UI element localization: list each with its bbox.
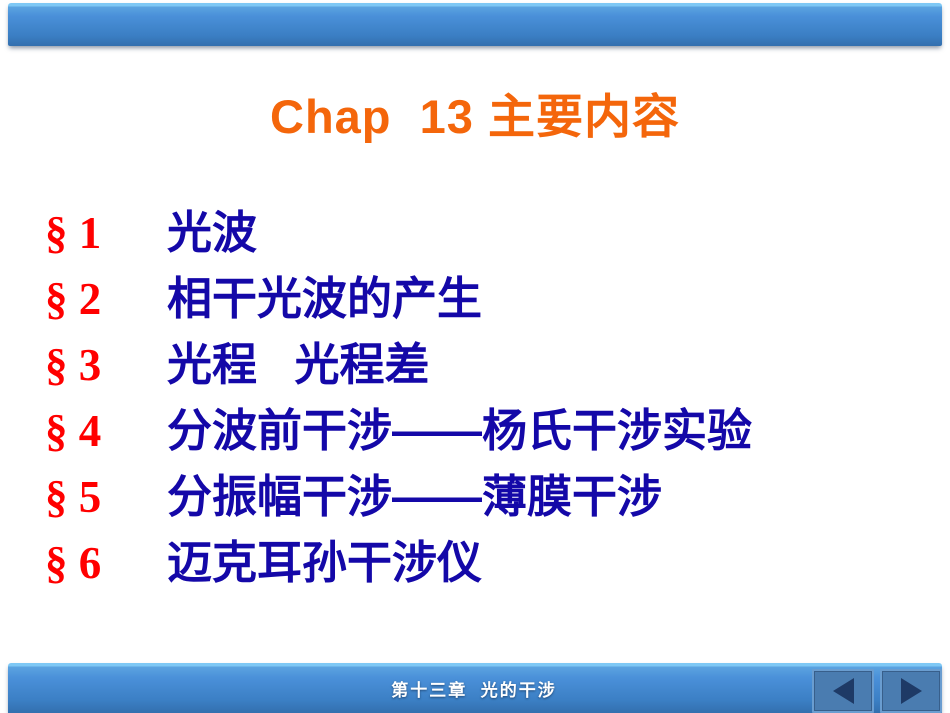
list-item: § 4 分波前干涉——杨氏干涉实验 bbox=[45, 398, 925, 464]
next-slide-button[interactable] bbox=[880, 669, 942, 713]
list-item: § 2 相干光波的产生 bbox=[45, 266, 925, 332]
footer-chapter-label: 第十三章 光的干涉 bbox=[391, 676, 556, 701]
list-item: § 6 迈克耳孙干涉仪 bbox=[45, 530, 925, 596]
section-title: 光程 光程差 bbox=[167, 332, 430, 398]
list-item: § 1 光波 bbox=[45, 200, 925, 266]
section-marker: § 1 bbox=[45, 200, 167, 266]
chapter-contents-list: § 1 光波 § 2 相干光波的产生 § 3 光程 光程差 § 4 分波前干涉—… bbox=[45, 200, 925, 596]
section-title: 分振幅干涉——薄膜干涉 bbox=[167, 464, 662, 530]
triangle-left-icon bbox=[833, 678, 854, 704]
section-title: 光波 bbox=[167, 200, 257, 266]
section-marker: § 2 bbox=[45, 266, 167, 332]
section-title: 迈克耳孙干涉仪 bbox=[167, 530, 482, 596]
presentation-slide: Chap 13 主要内容 § 1 光波 § 2 相干光波的产生 § 3 光程 光… bbox=[0, 0, 950, 713]
section-marker: § 6 bbox=[45, 530, 167, 596]
section-marker: § 3 bbox=[45, 332, 167, 398]
section-marker: § 5 bbox=[45, 464, 167, 530]
list-item: § 5 分振幅干涉——薄膜干涉 bbox=[45, 464, 925, 530]
triangle-right-icon bbox=[901, 678, 922, 704]
section-title: 相干光波的产生 bbox=[167, 266, 482, 332]
previous-slide-button[interactable] bbox=[812, 669, 874, 713]
list-item: § 3 光程 光程差 bbox=[45, 332, 925, 398]
top-decorative-bar bbox=[8, 3, 942, 46]
slide-navigation bbox=[812, 669, 942, 713]
section-marker: § 4 bbox=[45, 398, 167, 464]
footer-bar: 第十三章 光的干涉 bbox=[8, 663, 942, 713]
section-title: 分波前干涉——杨氏干涉实验 bbox=[167, 398, 752, 464]
page-title: Chap 13 主要内容 bbox=[0, 92, 950, 141]
